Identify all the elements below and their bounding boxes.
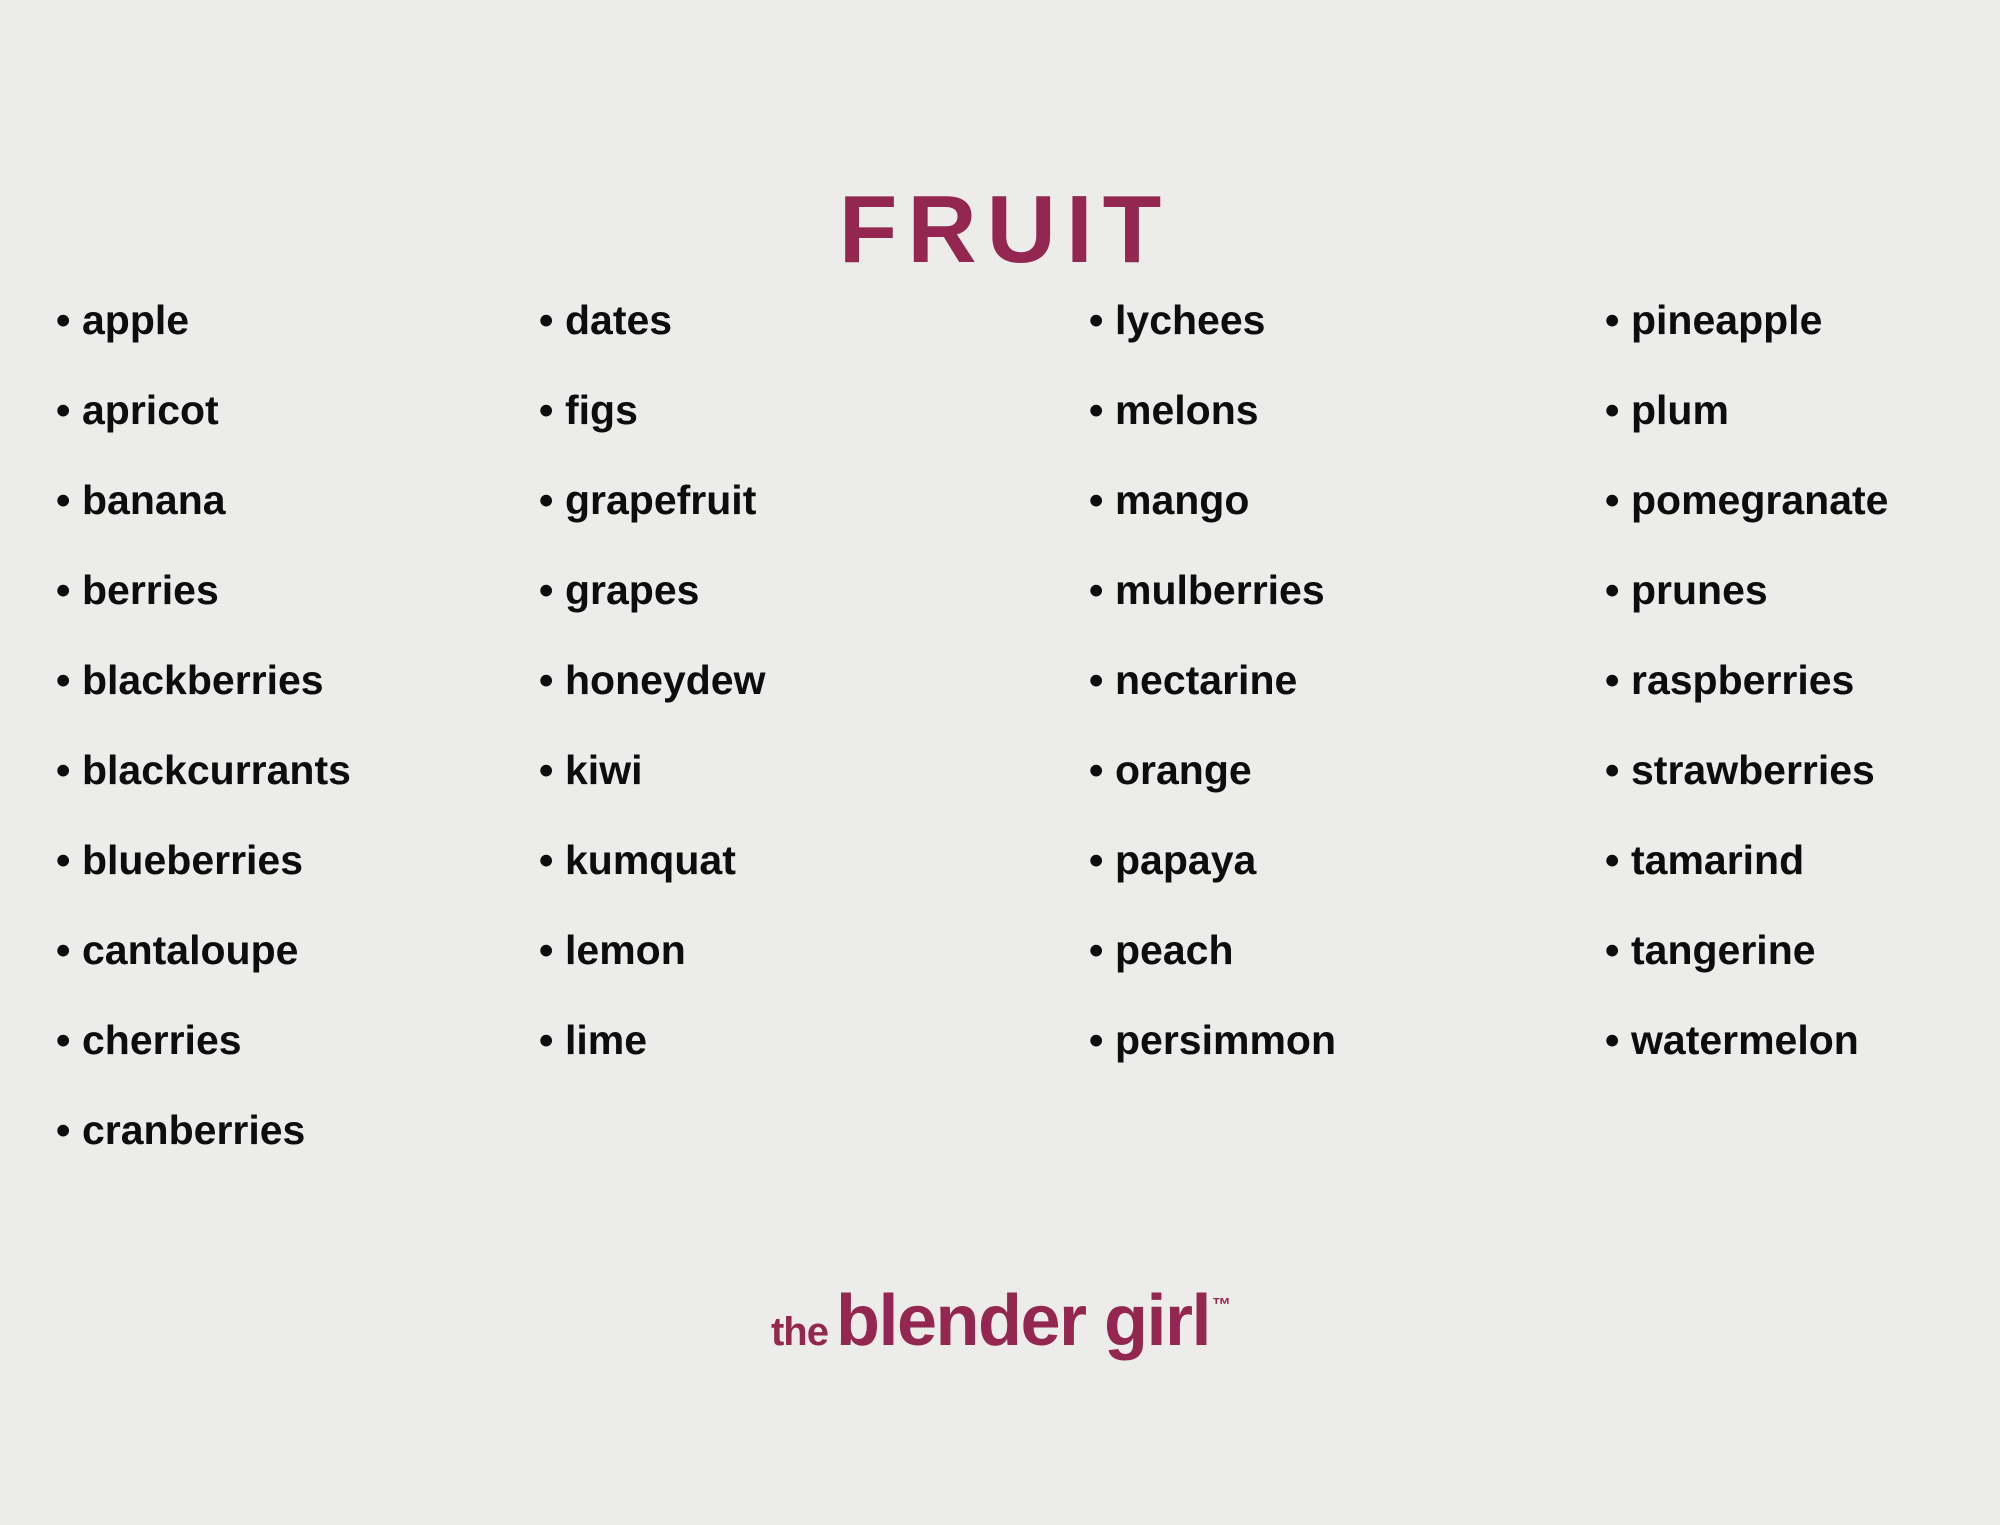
bullet-icon: • [539,300,565,341]
bullet-icon: • [56,300,82,341]
list-item-label: mulberries [1115,570,1325,611]
bullet-icon: • [1605,660,1631,701]
bullet-icon: • [539,1020,565,1061]
list-item: •apple [56,300,520,390]
bullet-icon: • [1089,1020,1115,1061]
fruit-column-2: •dates •figs •grapefruit •grapes •honeyd… [520,300,1040,1110]
bullet-icon: • [1605,930,1631,971]
list-item: •melons [1089,390,1560,480]
bullet-icon: • [1089,930,1115,971]
logo-prefix: the [771,1310,828,1354]
list-item-label: apricot [82,390,219,431]
list-item: •grapefruit [539,480,1040,570]
bullet-icon: • [56,660,82,701]
list-item-label: lime [565,1020,647,1061]
list-item-label: prunes [1631,570,1768,611]
list-item: •blackberries [56,660,520,750]
list-item: •kiwi [539,750,1040,840]
bullet-icon: • [56,750,82,791]
bullet-icon: • [56,1020,82,1061]
list-item: •kumquat [539,840,1040,930]
list-item: •pomegranate [1605,480,2000,570]
bullet-icon: • [539,840,565,881]
bullet-icon: • [1089,750,1115,791]
list-item: •tangerine [1605,930,2000,1020]
bullet-icon: • [1605,1020,1631,1061]
list-item-label: raspberries [1631,660,1854,701]
list-item: •peach [1089,930,1560,1020]
list-item-label: berries [82,570,219,611]
list-item: •papaya [1089,840,1560,930]
list-item: •honeydew [539,660,1040,750]
bullet-icon: • [539,750,565,791]
bullet-icon: • [56,1110,82,1151]
list-item-label: grapes [565,570,699,611]
list-item-label: figs [565,390,638,431]
bullet-icon: • [1605,840,1631,881]
list-item-label: apple [82,300,189,341]
bullet-icon: • [56,570,82,611]
bullet-icon: • [1089,390,1115,431]
list-item-label: persimmon [1115,1020,1336,1061]
list-item-label: plum [1631,390,1729,431]
list-item-label: tamarind [1631,840,1804,881]
bullet-icon: • [539,570,565,611]
list-item: •watermelon [1605,1020,2000,1110]
list-item: •mulberries [1089,570,1560,660]
list-item-label: lychees [1115,300,1265,341]
bullet-icon: • [56,930,82,971]
page-title: FRUIT [829,182,1172,278]
fruit-column-3: •lychees •melons •mango •mulberries •nec… [1040,300,1560,1110]
list-item: •banana [56,480,520,570]
list-item-label: dates [565,300,672,341]
bullet-icon: • [1089,570,1115,611]
bullet-icon: • [1089,660,1115,701]
list-item: •orange [1089,750,1560,840]
list-item-label: blackcurrants [82,750,351,791]
list-item-label: cranberries [82,1110,305,1151]
fruit-list-poster: FRUIT •apple •apricot •banana •berries •… [0,0,2000,1525]
list-item: •strawberries [1605,750,2000,840]
list-item-label: melons [1115,390,1259,431]
bullet-icon: • [539,480,565,521]
bullet-icon: • [539,660,565,701]
bullet-icon: • [56,840,82,881]
list-item: •tamarind [1605,840,2000,930]
list-item-label: mango [1115,480,1249,521]
bullet-icon: • [1605,480,1631,521]
list-item-label: watermelon [1631,1020,1859,1061]
fruit-column-1: •apple •apricot •banana •berries •blackb… [0,300,520,1200]
bullet-icon: • [1089,840,1115,881]
list-item: •lychees [1089,300,1560,390]
list-item-label: honeydew [565,660,765,701]
list-item-label: blueberries [82,840,303,881]
list-item-label: blackberries [82,660,324,701]
list-item-label: tangerine [1631,930,1816,971]
list-item: •plum [1605,390,2000,480]
trademark-icon: ™ [1212,1295,1231,1316]
list-item: •lime [539,1020,1040,1110]
list-item-label: pineapple [1631,300,1822,341]
list-item: •blackcurrants [56,750,520,840]
fruit-list-1: •apple •apricot •banana •berries •blackb… [56,300,520,1200]
logo-name: blender girl [836,1281,1210,1361]
list-item: •persimmon [1089,1020,1560,1110]
fruit-columns: •apple •apricot •banana •berries •blackb… [0,300,2000,1200]
list-item: •raspberries [1605,660,2000,750]
list-item: •blueberries [56,840,520,930]
list-item: •dates [539,300,1040,390]
list-item-label: banana [82,480,226,521]
fruit-list-2: •dates •figs •grapefruit •grapes •honeyd… [539,300,1040,1110]
list-item-label: kiwi [565,750,642,791]
list-item: •cranberries [56,1110,520,1200]
bullet-icon: • [1605,390,1631,431]
bullet-icon: • [539,930,565,971]
list-item: •prunes [1605,570,2000,660]
fruit-column-4: •pineapple •plum •pomegranate •prunes •r… [1560,300,2000,1110]
list-item: •pineapple [1605,300,2000,390]
list-item: •cherries [56,1020,520,1110]
list-item: •nectarine [1089,660,1560,750]
list-item: •figs [539,390,1040,480]
list-item: •berries [56,570,520,660]
fruit-list-4: •pineapple •plum •pomegranate •prunes •r… [1605,300,2000,1110]
list-item-label: orange [1115,750,1252,791]
list-item: •cantaloupe [56,930,520,1020]
bullet-icon: • [1605,300,1631,341]
bullet-icon: • [1605,750,1631,791]
bullet-icon: • [1089,480,1115,521]
list-item: •grapes [539,570,1040,660]
bullet-icon: • [1605,570,1631,611]
list-item-label: kumquat [565,840,736,881]
list-item-label: pomegranate [1631,480,1888,521]
bullet-icon: • [1089,300,1115,341]
list-item-label: cherries [82,1020,242,1061]
bullet-icon: • [56,480,82,521]
brand-logo: theblender girl™ [0,1280,2000,1362]
list-item: •mango [1089,480,1560,570]
list-item-label: peach [1115,930,1234,971]
bullet-icon: • [539,390,565,431]
list-item: •apricot [56,390,520,480]
list-item-label: lemon [565,930,686,971]
list-item-label: grapefruit [565,480,756,521]
list-item-label: cantaloupe [82,930,298,971]
list-item-label: papaya [1115,840,1256,881]
list-item-label: nectarine [1115,660,1297,701]
list-item: •lemon [539,930,1040,1020]
bullet-icon: • [56,390,82,431]
fruit-list-3: •lychees •melons •mango •mulberries •nec… [1089,300,1560,1110]
list-item-label: strawberries [1631,750,1875,791]
